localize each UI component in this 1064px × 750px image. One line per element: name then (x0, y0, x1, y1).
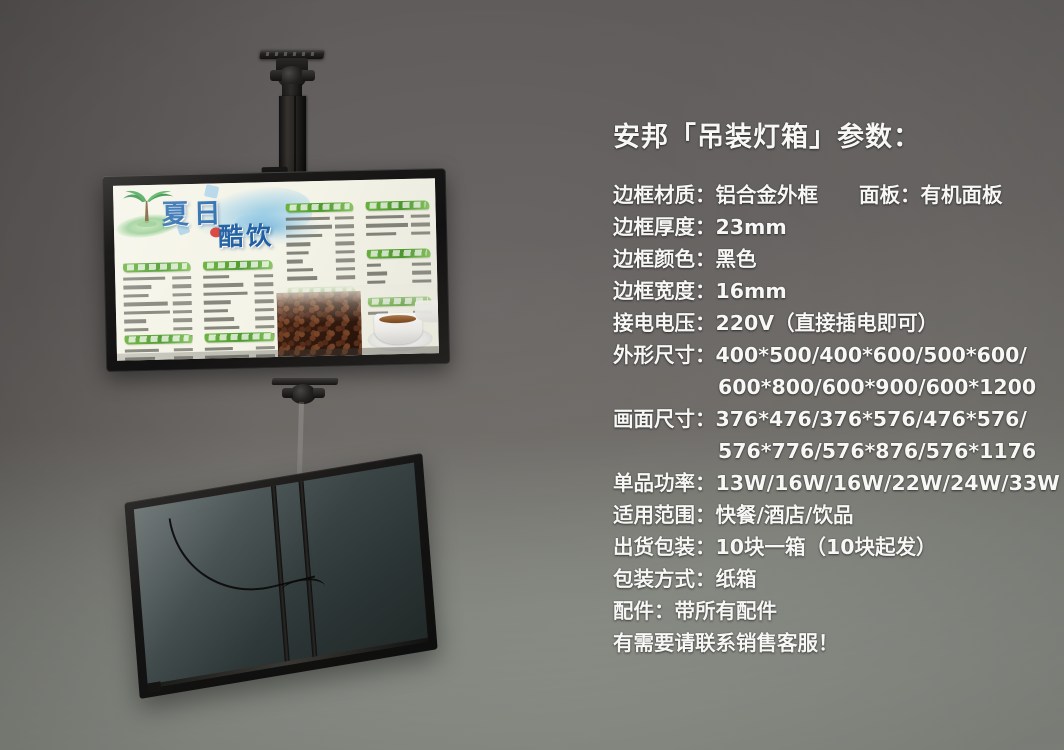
spec-line-outer-size-cont: 600*800/600*900/600*1200 (613, 371, 1053, 403)
lower-swivel-knob-right (313, 388, 325, 398)
swivel-knob-left (270, 70, 282, 81)
menu-row (286, 223, 354, 232)
spec-line-picture-size-cont: 576*776/576*876/576*1176 (613, 435, 1053, 467)
menu-row (124, 308, 192, 317)
menu-row (203, 272, 273, 281)
menu-row (367, 260, 431, 269)
menu-row (367, 269, 431, 278)
drink-menu-artwork: 夏日 酷饮 (113, 178, 439, 361)
spec-line-voltage: 接电电压：220V（直接插电即可） (613, 307, 1053, 339)
spec-line-accessories: 配件：带所有配件 (613, 595, 1053, 627)
spec-line-contact: 有需要请联系销售客服！ (613, 627, 1053, 659)
menu-title-line1: 夏日 (161, 191, 226, 231)
menu-section-header (123, 262, 192, 273)
menu-section-header (203, 260, 274, 271)
menu-row (287, 265, 355, 274)
menu-row (123, 282, 191, 291)
menu-section-header (366, 248, 431, 259)
menu-row (124, 299, 192, 308)
menu-row (203, 289, 273, 298)
menu-row (366, 229, 430, 238)
spec-line-application: 适用范围：快餐/酒店/饮品 (613, 499, 1053, 531)
light-box-screen: 夏日 酷饮 (113, 178, 439, 361)
menu-section-2 (203, 260, 275, 342)
spec-line-frame-width: 边框宽度：16mm (613, 275, 1053, 307)
menu-row (124, 325, 192, 334)
product-photo-canvas: 夏日 酷饮 (0, 0, 1064, 750)
menu-section-1 (123, 262, 193, 344)
menu-row (286, 240, 354, 249)
spec-line-package-type: 包装方式：纸箱 (613, 563, 1053, 595)
light-box-front: 夏日 酷饮 (102, 168, 451, 372)
menu-row (204, 315, 274, 324)
ceiling-screw-holes (266, 52, 319, 56)
menu-row (203, 281, 273, 290)
menu-row (366, 212, 430, 221)
menu-row (286, 231, 354, 240)
menu-row (287, 248, 355, 257)
spec-line-outer-size: 外形尺寸：400*500/400*600/500*600/ (613, 339, 1053, 371)
menu-row (124, 316, 192, 325)
specification-panel: 安邦「吊装灯箱」参数： 边框材质：铝合金外框 面板：有机面板 边框厚度：23mm… (613, 124, 1053, 659)
spec-line-picture-size: 画面尺寸：376*476/376*576/476*576/ (613, 403, 1053, 435)
swivel-knob-right (302, 70, 315, 81)
menu-section-7 (367, 248, 432, 287)
menu-row (123, 274, 191, 283)
menu-row (123, 291, 191, 300)
spec-line-power: 单品功率：13W/16W/16W/22W/24W/33W (613, 467, 1053, 499)
menu-section-6 (365, 200, 430, 239)
menu-section-header (365, 200, 430, 211)
menu-row (204, 323, 274, 332)
menu-title-line2: 酷饮 (218, 216, 275, 253)
menu-section-5 (285, 202, 355, 284)
spec-line-shipping-pack: 出货包装：10块一箱（10块起发） (613, 531, 1053, 563)
menu-row (204, 306, 274, 315)
menu-row (287, 257, 355, 266)
lower-swivel-knob-left (282, 388, 293, 398)
menu-section-header (204, 332, 275, 343)
spec-title: 安邦「吊装灯箱」参数： (613, 124, 1053, 151)
menu-section-header (285, 202, 354, 213)
spec-line-frame-color: 边框颜色：黑色 (613, 243, 1053, 275)
menu-row (286, 214, 354, 223)
menu-row (287, 274, 355, 283)
menu-section-header (124, 334, 193, 345)
menu-row (366, 221, 430, 230)
menu-row (204, 298, 274, 307)
spec-line-frame-material: 边框材质：铝合金外框 面板：有机面板 (613, 179, 1053, 211)
spec-line-frame-thickness: 边框厚度：23mm (613, 211, 1053, 243)
